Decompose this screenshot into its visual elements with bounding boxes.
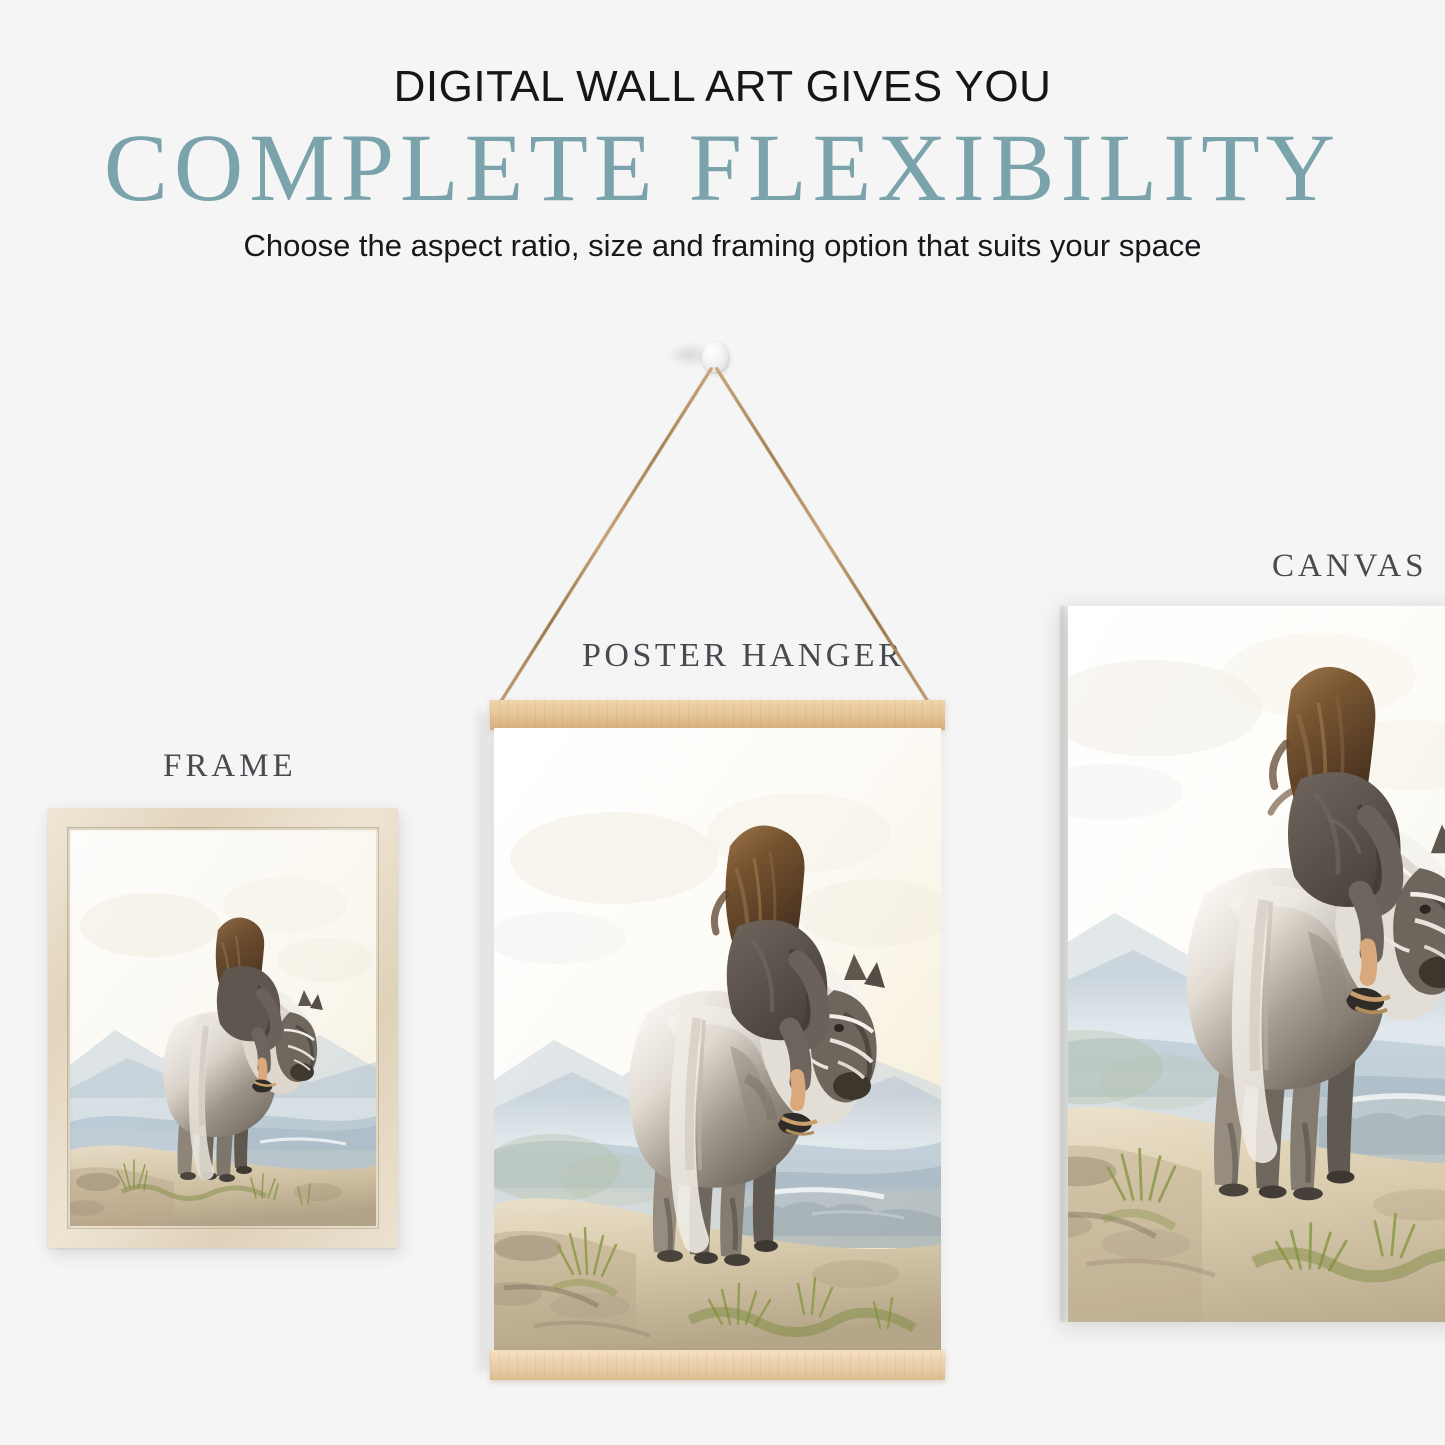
artwork-frame — [70, 830, 376, 1226]
product-label-canvas: CANVAS — [1272, 548, 1427, 585]
header-subtitle: Choose the aspect ratio, size and framin… — [0, 228, 1445, 264]
horse-artwork-svg — [1068, 606, 1445, 1322]
product-canvas[interactable] — [1068, 606, 1445, 1322]
horse-artwork-svg — [70, 830, 376, 1226]
horse-artwork-svg — [494, 728, 941, 1352]
product-poster-hanger[interactable] — [490, 700, 945, 1380]
product-label-poster-hanger: POSTER HANGER — [582, 637, 904, 675]
poster-mockup-canvas: DIGITAL WALL ART GIVES YOU COMPLETE FLEX… — [0, 0, 1445, 1445]
artwork-poster-hanger — [494, 728, 941, 1352]
product-frame[interactable] — [48, 808, 398, 1248]
product-label-frame: FRAME — [163, 748, 297, 785]
hanger-bar-bottom — [490, 1350, 945, 1380]
page-title: COMPLETE FLEXIBILITY — [0, 118, 1445, 219]
artwork-canvas — [1068, 606, 1445, 1322]
header-kicker: DIGITAL WALL ART GIVES YOU — [0, 62, 1445, 112]
hanger-bar-top — [490, 700, 945, 730]
